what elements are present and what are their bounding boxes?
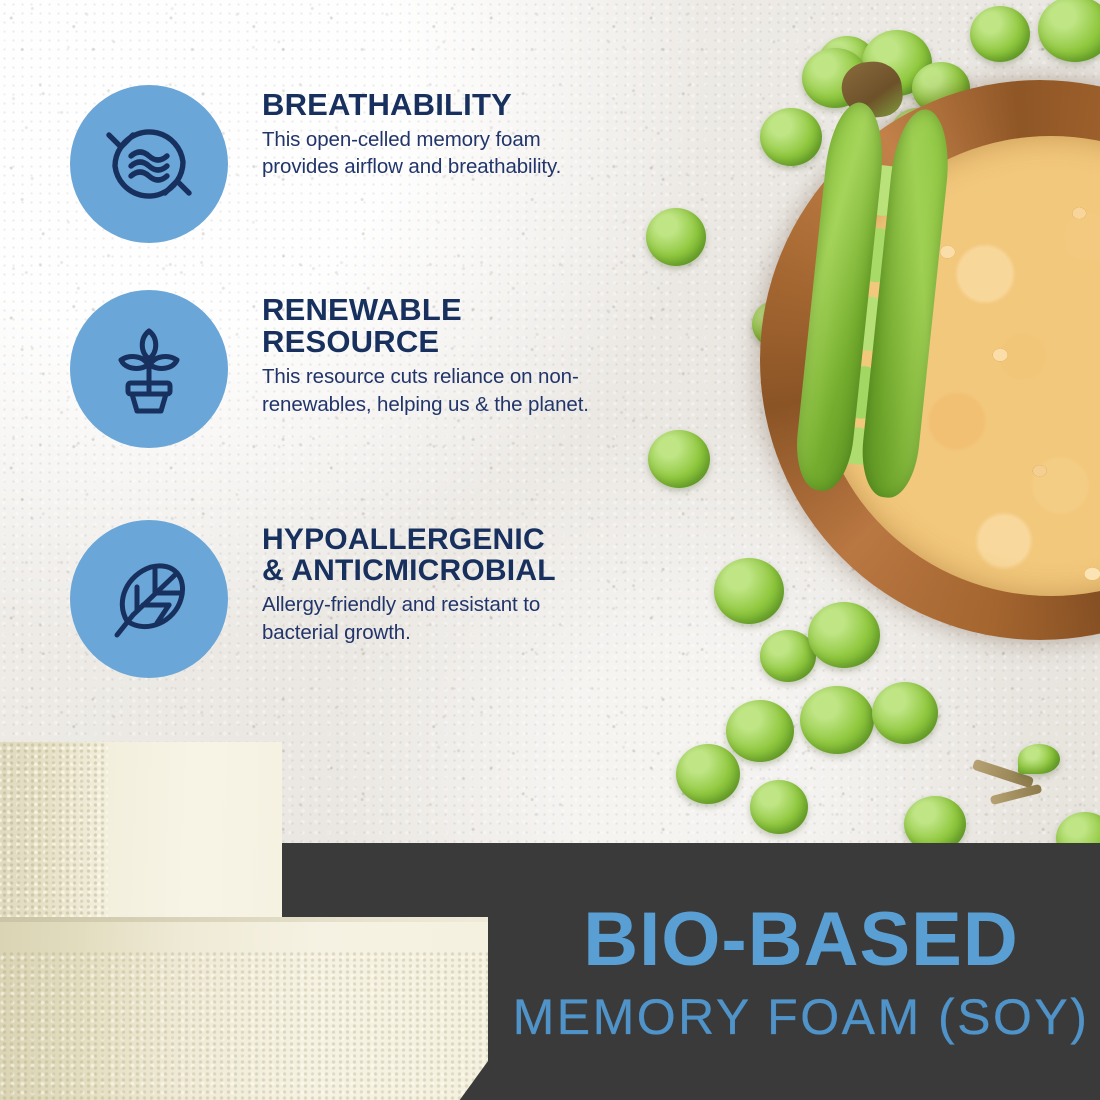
pea-sprout-leaf (1018, 744, 1060, 774)
pea (648, 430, 710, 488)
foam-porous-texture (0, 742, 108, 917)
feature-item-breathability: BREATHABILITY This open-celled memory fo… (70, 85, 612, 243)
feature-item-renewable-resource: RENEWABLE RESOURCE This resource cuts re… (70, 290, 610, 448)
pea (872, 682, 938, 744)
pea (800, 686, 874, 754)
pea (714, 558, 784, 624)
memory-foam-block-upper (0, 742, 282, 917)
pea (808, 602, 880, 668)
pea (970, 6, 1030, 62)
bottom-banner-text: BIO-BASED MEMORY FOAM (SOY) (282, 843, 1100, 1100)
feature-description: This resource cuts reliance on non-renew… (262, 363, 610, 418)
feature-item-hypoallergenic: HYPOALLERGENIC & ANTICMICROBIAL Allergy-… (70, 520, 622, 678)
feature-text-breathability: BREATHABILITY This open-celled memory fo… (262, 85, 612, 181)
pea (760, 108, 822, 166)
feature-title: HYPOALLERGENIC & ANTICMICROBIAL (262, 524, 622, 586)
pea (646, 208, 706, 266)
potted-plant-icon (70, 290, 228, 448)
pea-sprout-stem (990, 784, 1043, 805)
feature-description: This open-celled memory foam provides ai… (262, 126, 612, 181)
pea (1038, 0, 1100, 62)
banner-subheadline: MEMORY FOAM (SOY) (513, 992, 1090, 1042)
pea (726, 700, 794, 762)
feature-description: Allergy-friendly and resistant to bacter… (262, 591, 622, 646)
leaf-icon (70, 520, 228, 678)
airflow-cycle-icon (70, 85, 228, 243)
feature-text-hypoallergenic: HYPOALLERGENIC & ANTICMICROBIAL Allergy-… (262, 520, 622, 646)
infographic-canvas: BREATHABILITY This open-celled memory fo… (0, 0, 1100, 1100)
feature-title: BREATHABILITY (262, 89, 612, 121)
pea (904, 796, 966, 850)
feature-text-renewable-resource: RENEWABLE RESOURCE This resource cuts re… (262, 290, 610, 418)
pea-photography (640, 0, 1100, 850)
feature-list: BREATHABILITY This open-celled memory fo… (0, 0, 640, 700)
banner-headline: BIO-BASED (583, 902, 1018, 978)
feature-title: RENEWABLE RESOURCE (262, 294, 610, 358)
pea (750, 780, 808, 834)
pea (676, 744, 740, 804)
